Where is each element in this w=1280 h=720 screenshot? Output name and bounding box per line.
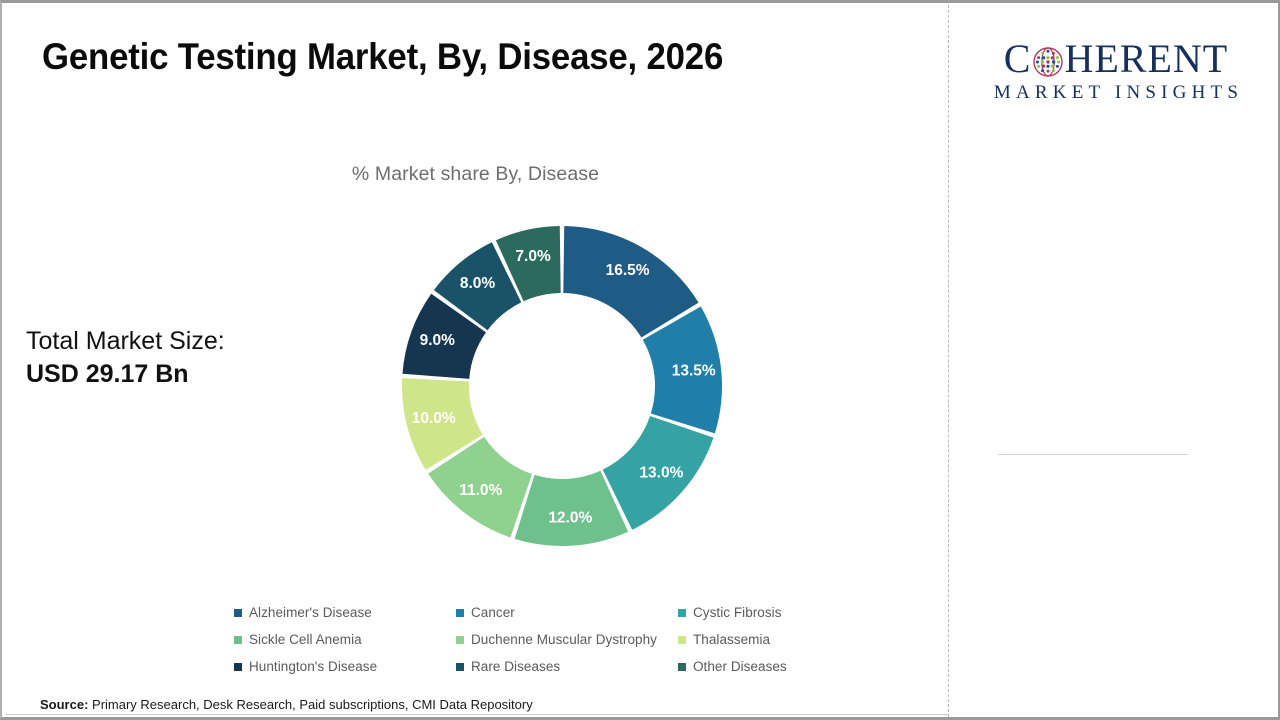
brand-logo-letters-herent: HERENT	[1064, 39, 1228, 79]
donut-slice-label: 16.5%	[606, 262, 650, 279]
highlight-stat-detail: Disease - Estimated Market Revenue Share…	[998, 340, 1201, 386]
legend-swatch-icon	[456, 609, 464, 617]
donut-slice-label: 7.0%	[515, 248, 551, 265]
total-market-size: Total Market Size: USD 29.17 Bn	[26, 325, 225, 391]
legend-item-label: Duchenne Muscular Dystrophy	[471, 632, 657, 647]
legend-swatch-icon	[678, 636, 686, 644]
donut-slices	[402, 226, 722, 546]
total-market-size-label: Total Market Size:	[26, 325, 225, 358]
donut-slice-label: 12.0%	[548, 509, 592, 526]
legend-swatch-icon	[234, 636, 242, 644]
brand-logo-letter-c: C	[1004, 39, 1032, 79]
donut-slice-label: 11.0%	[459, 482, 502, 499]
legend-item[interactable]: Alzheimer's Disease	[234, 605, 456, 620]
legend-item-label: Thalassemia	[693, 632, 770, 647]
brand-logo-subtitle: MARKET INSIGHTS	[989, 83, 1243, 102]
legend-swatch-icon	[456, 636, 464, 644]
legend-item[interactable]: Cancer	[456, 605, 678, 620]
donut-slice-label: 10.0%	[412, 410, 456, 427]
legend-swatch-icon	[234, 609, 242, 617]
highlight-panel: 16.50% Alzheimer's Disease , Disease - E…	[952, 137, 1280, 717]
legend-item-label: Cystic Fibrosis	[693, 605, 782, 620]
legend-item-label: Cancer	[471, 605, 515, 620]
donut-slice-label: 8.0%	[460, 275, 496, 292]
legend-item-label: Alzheimer's Disease	[249, 605, 372, 620]
highlight-stat-category: Alzheimer's Disease ,	[998, 312, 1166, 330]
highlight-divider	[998, 454, 1188, 455]
legend-item[interactable]: Cystic Fibrosis	[678, 605, 814, 620]
legend-swatch-icon	[678, 609, 686, 617]
brand-logo: C	[952, 3, 1280, 137]
donut-slice-label: 13.5%	[672, 363, 716, 380]
legend-item[interactable]: Thalassemia	[678, 632, 814, 647]
infographic-root: Genetic Testing Market, By, Disease, 202…	[0, 0, 1280, 720]
donut-slice-label: 13.0%	[639, 465, 683, 482]
left-panel: Genetic Testing Market, By, Disease, 202…	[2, 3, 949, 717]
source-value: Primary Research, Desk Research, Paid su…	[88, 697, 532, 712]
legend-item-label: Huntington's Disease	[249, 659, 377, 674]
total-market-size-value: USD 29.17 Bn	[26, 358, 225, 391]
highlight-stat-value: 16.50%	[998, 235, 1141, 278]
legend-item-label: Sickle Cell Anemia	[249, 632, 362, 647]
legend-item[interactable]: Duchenne Muscular Dystrophy	[456, 632, 678, 647]
highlight-stat-description: Alzheimer's Disease , Disease - Estimate…	[998, 307, 1228, 391]
right-panel: C	[952, 3, 1280, 717]
donut-chart-svg: 16.5%13.5%13.0%12.0%11.0%10.0%9.0%8.0%7.…	[398, 222, 726, 550]
donut-chart: 16.5%13.5%13.0%12.0%11.0%10.0%9.0%8.0%7.…	[398, 222, 726, 550]
donut-slice-label: 9.0%	[420, 332, 456, 349]
legend-item[interactable]: Rare Diseases	[456, 659, 678, 674]
highlight-market-name: Genetic Testing Market	[998, 497, 1238, 538]
panel-divider	[948, 5, 949, 717]
chart-legend: Alzheimer's DiseaseCancerCystic Fibrosis…	[234, 599, 814, 680]
legend-item-label: Other Diseases	[693, 659, 787, 674]
brand-logo-wordmark: C	[1004, 39, 1228, 79]
legend-item[interactable]: Sickle Cell Anemia	[234, 632, 456, 647]
legend-swatch-icon	[234, 663, 242, 671]
legend-swatch-icon	[456, 663, 464, 671]
source-divider	[6, 714, 949, 715]
source-line: Source: Primary Research, Desk Research,…	[40, 697, 533, 712]
world-map-texture	[952, 137, 1280, 717]
legend-item-label: Rare Diseases	[471, 659, 560, 674]
globe-icon	[1033, 44, 1063, 74]
legend-item[interactable]: Other Diseases	[678, 659, 814, 674]
source-label: Source:	[40, 697, 88, 712]
legend-swatch-icon	[678, 663, 686, 671]
legend-item[interactable]: Huntington's Disease	[234, 659, 456, 674]
chart-subtitle: % Market share By, Disease	[2, 163, 949, 186]
page-title: Genetic Testing Market, By, Disease, 202…	[42, 36, 723, 78]
